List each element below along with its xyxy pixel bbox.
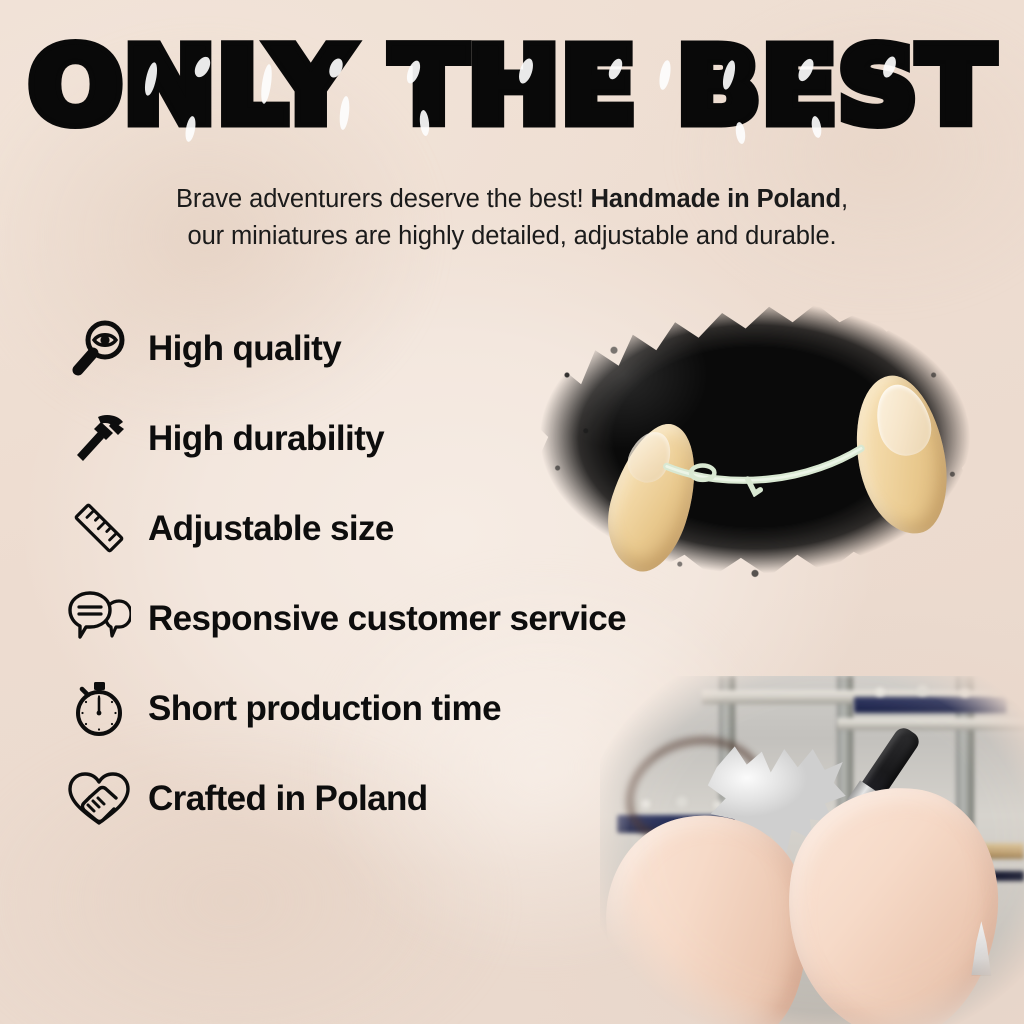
handshake-heart-icon [62,761,136,835]
stopwatch-icon [62,671,136,745]
promo-infographic: ONLY THE BEST Brave adventurers deserve … [0,0,1024,1024]
flexible-miniature-photo [520,282,990,592]
feature-label: Short production time [148,691,501,726]
feature-label: Responsive customer service [148,601,626,636]
ruler-icon [62,491,136,565]
feature-label: High quality [148,331,341,366]
magnifier-eye-icon [62,311,136,385]
speech-bubbles-icon [62,581,136,655]
shelf-board-upper [837,718,1024,730]
subtitle-line2: our miniatures are highly detailed, adju… [187,222,836,250]
subtitle-line1-suffix: , [841,185,848,213]
background-wash-top-right [676,0,1024,307]
subtitle-line1-prefix: Brave adventurers deserve the best! [176,185,591,213]
subtitle-highlight: Handmade in Poland [591,185,841,213]
subtitle: Brave adventurers deserve the best! Hand… [70,181,954,255]
tray-parts-upper [846,683,1016,701]
feature-label: Crafted in Poland [148,781,428,816]
feature-label: High durability [148,421,384,456]
hammer-icon [62,401,136,475]
feature-label: Adjustable size [148,511,394,546]
workshop-painting-photo [600,676,1024,1024]
